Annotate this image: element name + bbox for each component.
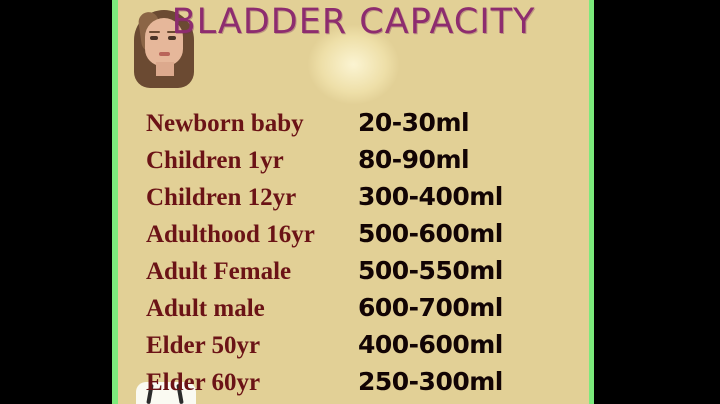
- row-value: 500-550ml: [358, 252, 503, 289]
- row-label: Elder 60yr: [140, 364, 358, 401]
- row-value: 600-700ml: [358, 289, 503, 326]
- table-row: Adult Female500-550ml: [140, 252, 580, 289]
- row-value: 400-600ml: [358, 326, 503, 363]
- row-label: Adult male: [140, 290, 358, 327]
- table-row: Children 12yr300-400ml: [140, 178, 580, 215]
- table-row: Adulthood 16yr500-600ml: [140, 215, 580, 252]
- row-value: 250-300ml: [358, 363, 503, 400]
- table-row: Adult male600-700ml: [140, 289, 580, 326]
- row-value: 20-30ml: [358, 104, 469, 141]
- page-title: BLADDER CAPACITY: [118, 2, 589, 42]
- row-label: Adult Female: [140, 253, 358, 290]
- poster-screenshot: BLADDER CAPACITY Newborn baby20-30ml Chi…: [0, 0, 720, 404]
- table-row: Elder 60yr250-300ml: [140, 363, 580, 400]
- table-row: Newborn baby20-30ml: [140, 104, 580, 141]
- table-row: Children 1yr80-90ml: [140, 141, 580, 178]
- row-label: Elder 50yr: [140, 327, 358, 364]
- row-label: Children 12yr: [140, 179, 358, 216]
- row-value: 500-600ml: [358, 215, 503, 252]
- poster-frame: BLADDER CAPACITY Newborn baby20-30ml Chi…: [112, 0, 594, 404]
- capacity-table: Newborn baby20-30ml Children 1yr80-90ml …: [140, 104, 580, 400]
- photo-mouth: [159, 52, 170, 56]
- row-label: Adulthood 16yr: [140, 216, 358, 253]
- row-label: Children 1yr: [140, 142, 358, 179]
- row-value: 80-90ml: [358, 141, 469, 178]
- table-row: Elder 50yr400-600ml: [140, 326, 580, 363]
- poster-page: BLADDER CAPACITY Newborn baby20-30ml Chi…: [118, 0, 589, 404]
- photo-neck: [156, 62, 174, 76]
- row-label: Newborn baby: [140, 105, 358, 142]
- row-value: 300-400ml: [358, 178, 503, 215]
